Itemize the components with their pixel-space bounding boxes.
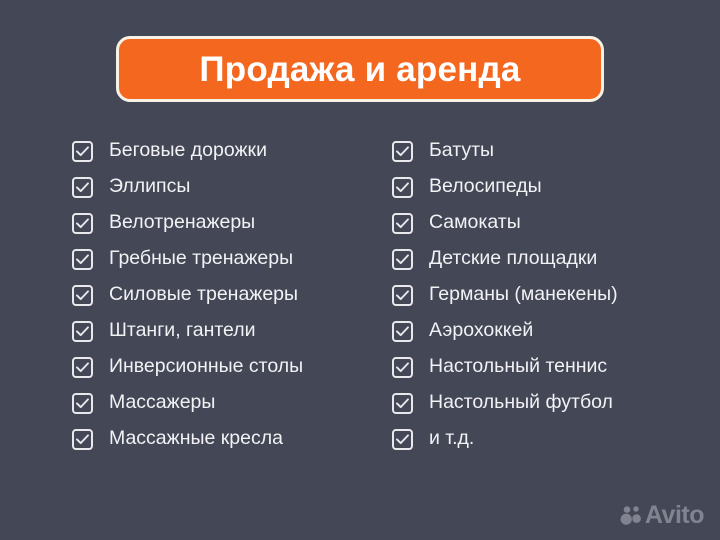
check-mark-icon (76, 254, 89, 265)
checkbox-checked-icon[interactable] (72, 141, 93, 162)
slide-canvas: Продажа и аренда Беговые дорожкиЭллипсыВ… (0, 0, 720, 540)
checkbox-checked-icon[interactable] (392, 393, 413, 414)
checklist-item[interactable]: и т.д. (392, 421, 692, 457)
checklist-item-label: Штанги, гантели (109, 321, 256, 341)
checkbox-checked-icon[interactable] (392, 429, 413, 450)
check-mark-icon (396, 254, 409, 265)
check-mark-icon (76, 290, 89, 301)
avito-dots-icon (620, 505, 642, 527)
checklist-item-label: Детские площадки (429, 249, 597, 269)
check-mark-icon (76, 362, 89, 373)
checklist-item-label: Аэрохоккей (429, 321, 533, 341)
checklist-item[interactable]: Велотренажеры (72, 205, 392, 241)
check-mark-icon (396, 218, 409, 229)
checklist-item[interactable]: Настольный футбол (392, 385, 692, 421)
check-mark-icon (396, 362, 409, 373)
checklist-container: Беговые дорожкиЭллипсыВелотренажерыГребн… (0, 133, 720, 457)
checklist-item-label: Массажные кресла (109, 429, 283, 449)
checklist-item-label: Самокаты (429, 213, 521, 233)
check-mark-icon (396, 146, 409, 157)
checklist-item-label: Инверсионные столы (109, 357, 303, 377)
checkbox-checked-icon[interactable] (72, 285, 93, 306)
checkbox-checked-icon[interactable] (392, 285, 413, 306)
checklist-item-label: Беговые дорожки (109, 141, 267, 161)
checkbox-checked-icon[interactable] (392, 249, 413, 270)
checklist-item[interactable]: Самокаты (392, 205, 692, 241)
checkbox-checked-icon[interactable] (392, 357, 413, 378)
checklist-item[interactable]: Велосипеды (392, 169, 692, 205)
checkbox-checked-icon[interactable] (72, 321, 93, 342)
checkbox-checked-icon[interactable] (72, 393, 93, 414)
checklist-item[interactable]: Аэрохоккей (392, 313, 692, 349)
check-mark-icon (76, 326, 89, 337)
check-mark-icon (76, 398, 89, 409)
checklist-item[interactable]: Эллипсы (72, 169, 392, 205)
checklist-item-label: Настольный теннис (429, 357, 607, 377)
check-mark-icon (396, 434, 409, 445)
checklist-item-label: Велотренажеры (109, 213, 255, 233)
checkbox-checked-icon[interactable] (392, 177, 413, 198)
checkbox-checked-icon[interactable] (72, 429, 93, 450)
checklist-column-left: Беговые дорожкиЭллипсыВелотренажерыГребн… (72, 133, 392, 457)
checklist-item[interactable]: Детские площадки (392, 241, 692, 277)
checklist-item[interactable]: Батуты (392, 133, 692, 169)
checklist-item-label: Настольный футбол (429, 393, 613, 413)
avito-wordmark: Avito (645, 503, 704, 528)
checklist-item[interactable]: Массажеры (72, 385, 392, 421)
checkbox-checked-icon[interactable] (392, 321, 413, 342)
check-mark-icon (396, 182, 409, 193)
checklist-item[interactable]: Германы (манекены) (392, 277, 692, 313)
page-title: Продажа и аренда (199, 52, 520, 87)
checklist-item-label: Массажеры (109, 393, 215, 413)
check-mark-icon (76, 434, 89, 445)
checklist-item[interactable]: Беговые дорожки (72, 133, 392, 169)
check-mark-icon (396, 398, 409, 409)
check-mark-icon (396, 290, 409, 301)
title-banner: Продажа и аренда (116, 36, 604, 102)
check-mark-icon (76, 218, 89, 229)
checklist-item-label: Батуты (429, 141, 494, 161)
checklist-item[interactable]: Гребные тренажеры (72, 241, 392, 277)
avito-watermark: Avito (620, 503, 704, 528)
checklist-item-label: Силовые тренажеры (109, 285, 298, 305)
checklist-item-label: и т.д. (429, 429, 474, 449)
checklist-item-label: Эллипсы (109, 177, 190, 197)
checklist-item[interactable]: Массажные кресла (72, 421, 392, 457)
checkbox-checked-icon[interactable] (72, 249, 93, 270)
checkbox-checked-icon[interactable] (392, 141, 413, 162)
check-mark-icon (76, 182, 89, 193)
checklist-column-right: БатутыВелосипедыСамокатыДетские площадки… (392, 133, 692, 457)
checklist-item[interactable]: Настольный теннис (392, 349, 692, 385)
checkbox-checked-icon[interactable] (392, 213, 413, 234)
checkbox-checked-icon[interactable] (72, 357, 93, 378)
checklist-item[interactable]: Штанги, гантели (72, 313, 392, 349)
check-mark-icon (76, 146, 89, 157)
checklist-item-label: Германы (манекены) (429, 285, 618, 305)
checklist-item-label: Гребные тренажеры (109, 249, 293, 269)
checklist-item-label: Велосипеды (429, 177, 542, 197)
checklist-item[interactable]: Инверсионные столы (72, 349, 392, 385)
checkbox-checked-icon[interactable] (72, 177, 93, 198)
check-mark-icon (396, 326, 409, 337)
checkbox-checked-icon[interactable] (72, 213, 93, 234)
checklist-item[interactable]: Силовые тренажеры (72, 277, 392, 313)
